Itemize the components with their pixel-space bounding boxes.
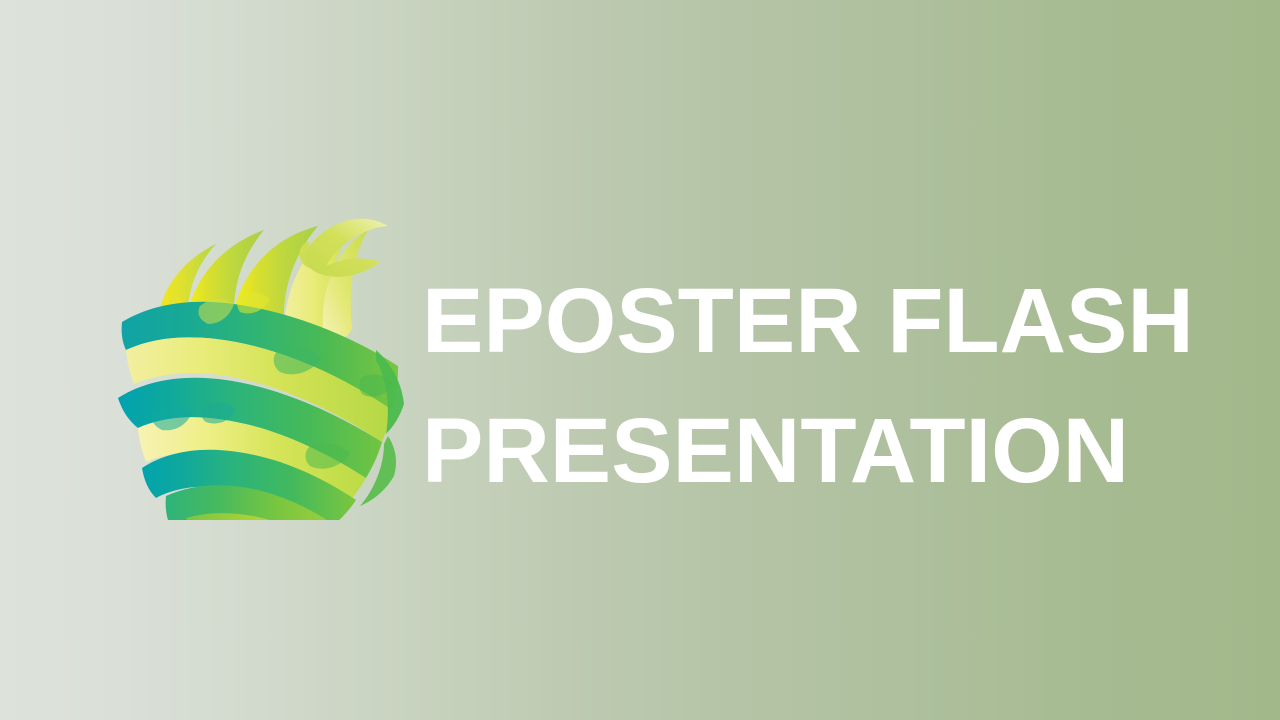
page-title-line-2: PRESENTATION (422, 386, 1222, 516)
globe-ribbon-bands (118, 218, 404, 520)
logo (112, 200, 412, 520)
slide-canvas: EPOSTER FLASH PRESENTATION (0, 0, 1280, 720)
title-block: EPOSTER FLASH PRESENTATION (422, 256, 1222, 516)
page-title-line-1: EPOSTER FLASH (422, 256, 1222, 386)
